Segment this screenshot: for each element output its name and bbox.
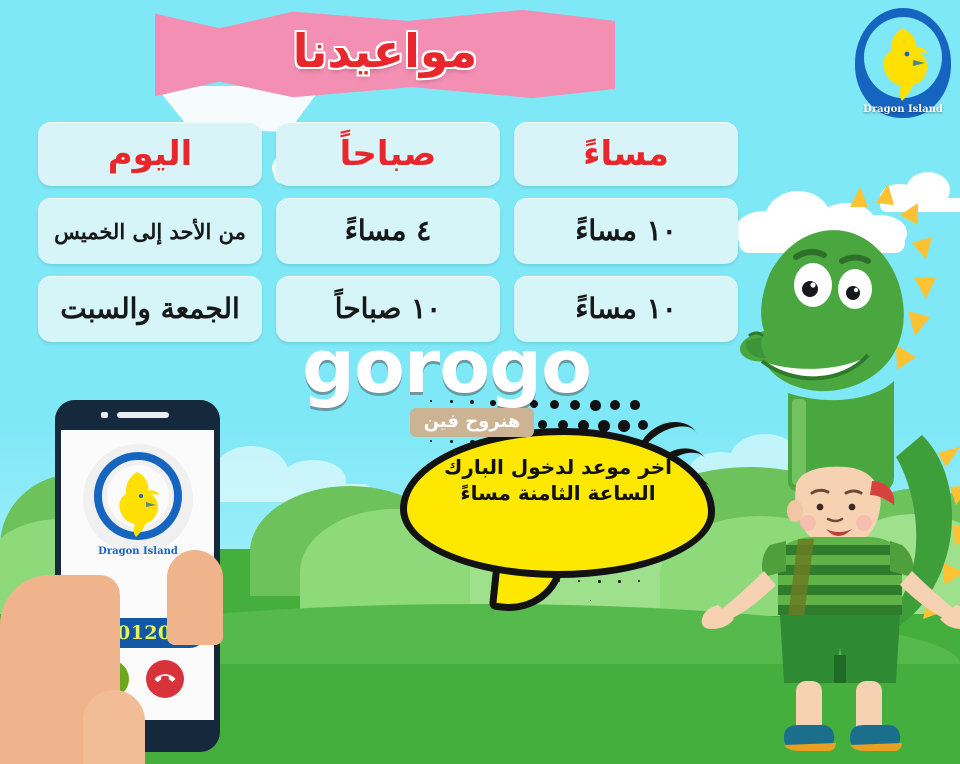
value-evening-weekend: ١٠ مساءً (575, 295, 677, 323)
header-label-day: اليوم (108, 137, 193, 171)
hand-thumb (83, 690, 145, 764)
dragon-head-icon (855, 8, 951, 118)
logo-wordmark: Dragon Island (855, 104, 951, 115)
cell-morning-weekday: ٤ مساءً (276, 198, 500, 264)
notice-line-1: أخر موعد لدخول البارك (414, 454, 702, 480)
header-cell-morning: صباحاً (276, 122, 500, 186)
call-decline-icon[interactable] (146, 660, 184, 698)
phone-speaker-grill (117, 412, 169, 418)
header-label-evening: مساءً (583, 137, 669, 171)
notice-text: أخر موعد لدخول البارك الساعة الثامنة مسا… (414, 454, 702, 506)
poster-canvas: مواعيدنا Dragon Island مساءً صباحاً اليو… (0, 0, 960, 764)
value-evening-weekday: ١٠ مساءً (575, 217, 677, 245)
value-morning-weekday: ٤ مساءً (345, 217, 431, 245)
title-banner: مواعيدنا (155, 8, 615, 100)
watermark: gorogo هنروح فين (302, 330, 642, 450)
dragon-mascot-and-boy (700, 185, 960, 764)
cell-day-weekend: الجمعة والسبت (38, 276, 262, 342)
header-cell-day: اليوم (38, 122, 262, 186)
schedule-table: مساءً صباحاً اليوم ١٠ مساءً ٤ مساءً من ا… (38, 122, 738, 354)
hand-finger (167, 550, 223, 645)
table-row: ١٠ مساءً ٤ مساءً من الأحد إلى الخميس (38, 198, 738, 264)
phone-illustration: Dragon Island 01200120015 (55, 400, 220, 760)
mascot-illustration (700, 185, 960, 764)
value-day-weekend: الجمعة والسبت (60, 295, 240, 323)
brand-logo: Dragon Island (855, 8, 951, 118)
call-decline-glyph (151, 665, 179, 693)
header-cell-evening: مساءً (514, 122, 738, 186)
cell-day-weekday: من الأحد إلى الخميس (38, 198, 262, 264)
speech-bubble: أخر موعد لدخول البارك الساعة الثامنة مسا… (400, 428, 715, 603)
table-header-row: مساءً صباحاً اليوم (38, 122, 738, 186)
phone-camera-icon (101, 412, 108, 418)
speech-bubble-tail-join (496, 538, 558, 564)
watermark-tagline: هنروح فين (410, 408, 535, 437)
page-title: مواعيدنا (155, 8, 615, 100)
value-morning-weekend: ١٠ صباحاً (335, 295, 441, 323)
notice-line-2: الساعة الثامنة مساءً (414, 480, 702, 506)
phone-caller-avatar: Dragon Island (83, 444, 193, 554)
avatar-dragon-logo-icon (83, 444, 193, 554)
value-day-weekday: من الأحد إلى الخميس (54, 221, 246, 242)
header-label-morning: صباحاً (340, 137, 437, 171)
watermark-wordmark: gorogo (302, 330, 642, 404)
